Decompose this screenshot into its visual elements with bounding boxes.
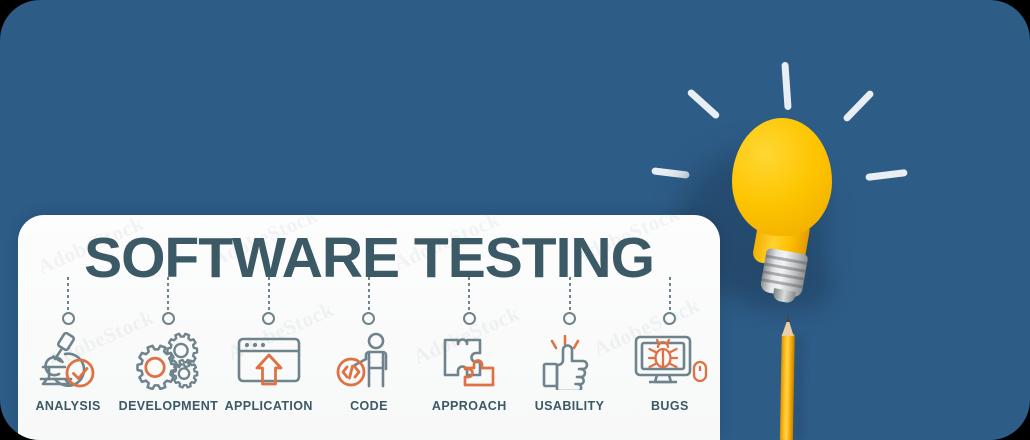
connector-dotted-line	[669, 277, 671, 311]
item-code[interactable]: CODE	[319, 277, 419, 440]
light-ray-4	[651, 167, 690, 179]
connector-end-ring	[563, 312, 576, 325]
item-label: USABILITY	[535, 399, 605, 413]
item-usability[interactable]: USABILITY	[519, 277, 619, 440]
connector-dotted-line	[268, 277, 270, 311]
item-bugs[interactable]: BUGS	[620, 277, 720, 440]
connector-end-ring	[162, 312, 175, 325]
light-ray-1	[781, 62, 791, 110]
connector-end-ring	[663, 312, 676, 325]
item-analysis[interactable]: ANALYSIS	[18, 277, 118, 440]
bulb-glass	[732, 118, 832, 236]
connector-end-ring	[262, 312, 275, 325]
icon-row: ANALYSIS	[18, 277, 720, 440]
connector-dotted-line	[569, 277, 571, 311]
pencil-lead	[786, 314, 790, 322]
connector-end-ring	[463, 312, 476, 325]
connector-end-ring	[62, 312, 75, 325]
gears-icon	[133, 332, 203, 390]
item-application[interactable]: APPLICATION	[219, 277, 319, 440]
connector-dotted-line	[368, 277, 370, 311]
pencil-icon	[780, 314, 795, 440]
browser-window-upload-icon	[233, 332, 305, 390]
lightbulb-icon	[714, 118, 834, 318]
thumbs-up-icon	[538, 332, 602, 390]
connector-end-ring	[362, 312, 375, 325]
connector-dotted-line	[167, 277, 169, 311]
item-label: BUGS	[651, 399, 689, 413]
connector-dotted-line	[468, 277, 470, 311]
info-card: AdobeStock AdobeStock AdobeStock AdobeSt…	[18, 215, 720, 440]
monitor-bug-icon	[631, 332, 709, 390]
microscope-check-icon	[35, 332, 101, 390]
puzzle-pieces-icon	[436, 332, 502, 390]
connector-dotted-line	[67, 277, 69, 311]
item-label: DEVELOPMENT	[119, 399, 219, 413]
poster-canvas: AdobeStock AdobeStock AdobeStock AdobeSt…	[0, 0, 1030, 440]
item-label: CODE	[350, 399, 388, 413]
pencil-shadow	[793, 336, 804, 440]
light-ray-2	[686, 88, 720, 120]
item-development[interactable]: DEVELOPMENT	[118, 277, 218, 440]
person-code-icon	[335, 332, 403, 390]
pencil-body	[780, 334, 795, 440]
item-label: APPROACH	[432, 399, 507, 413]
item-approach[interactable]: APPROACH	[419, 277, 519, 440]
item-label: APPLICATION	[225, 399, 313, 413]
light-ray-5	[865, 169, 908, 181]
light-ray-3	[842, 89, 875, 123]
item-label: ANALYSIS	[36, 399, 101, 413]
